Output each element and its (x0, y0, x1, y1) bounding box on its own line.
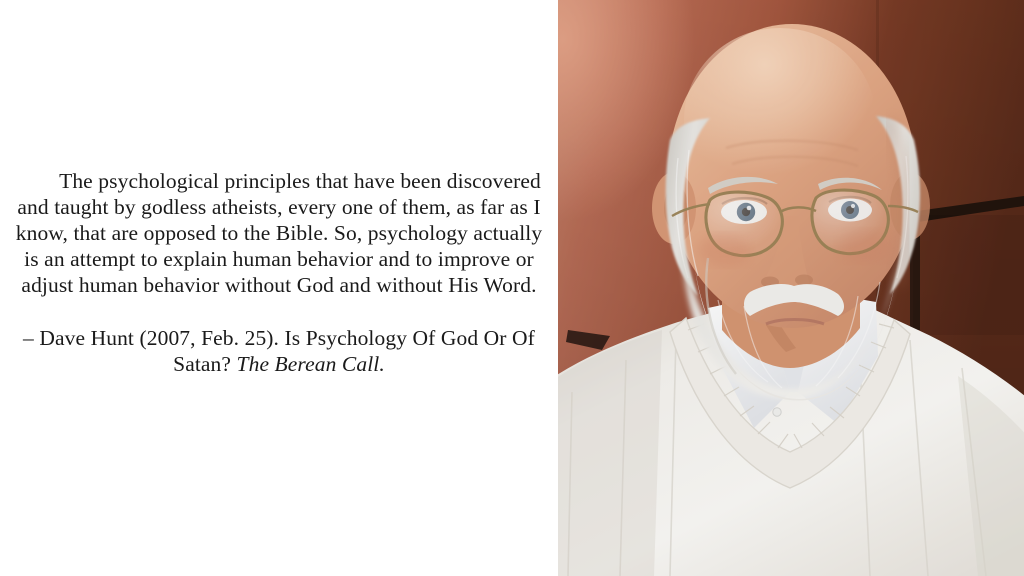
photo-vignette (558, 0, 1024, 576)
quote-block: The psychological principles that have b… (14, 168, 544, 377)
attribution-source-title: The Berean Call. (237, 352, 385, 376)
quote-body-text: The psychological principles that have b… (14, 168, 544, 298)
portrait-photo-image (558, 0, 1024, 576)
quote-text-panel: The psychological principles that have b… (0, 0, 558, 576)
slide-root: The psychological principles that have b… (0, 0, 1024, 576)
portrait-photo (558, 0, 1024, 576)
quote-attribution: – Dave Hunt (2007, Feb. 25). Is Psycholo… (14, 298, 544, 377)
